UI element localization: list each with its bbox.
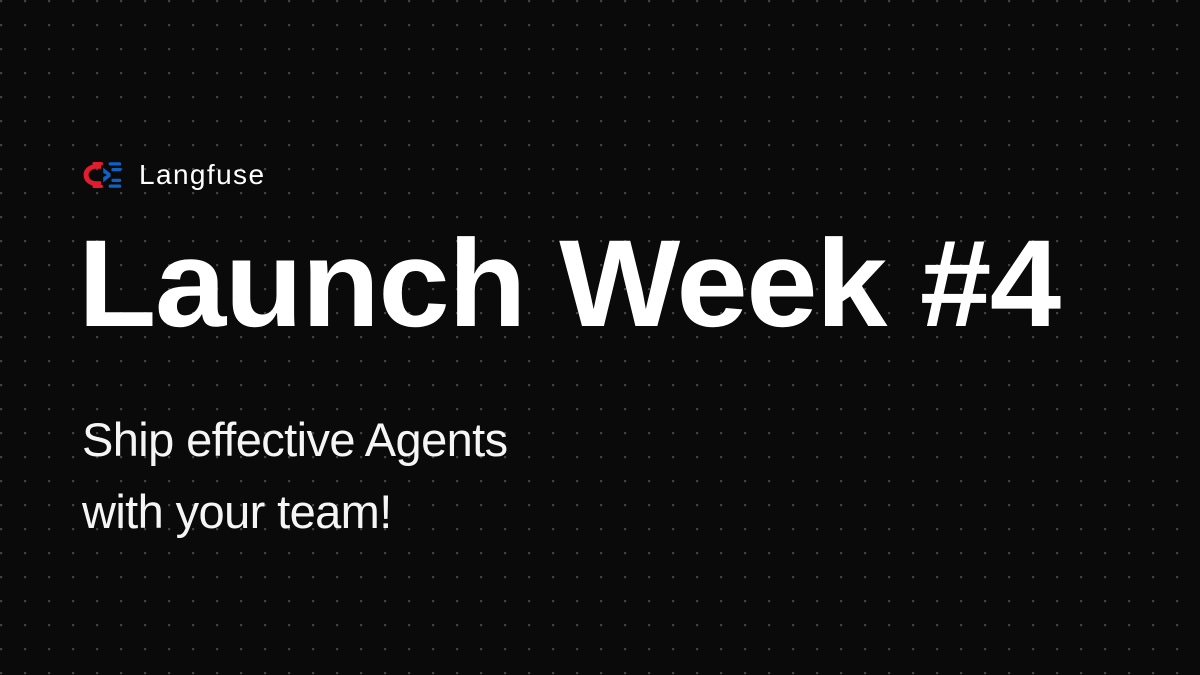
page-title: Launch Week #4 <box>78 222 1060 346</box>
subtitle-line-1: Ship effective Agents <box>82 404 508 476</box>
subtitle-line-2: with your team! <box>82 476 508 548</box>
brand-lockup: Langfuse <box>82 155 265 195</box>
banner-content: Langfuse Launch Week #4 Ship effective A… <box>82 0 1122 675</box>
brand-name: Langfuse <box>139 161 265 189</box>
langfuse-logo-mark <box>82 162 122 188</box>
page-subtitle: Ship effective Agents with your team! <box>82 404 508 548</box>
launch-week-banner: Langfuse Launch Week #4 Ship effective A… <box>0 0 1200 675</box>
